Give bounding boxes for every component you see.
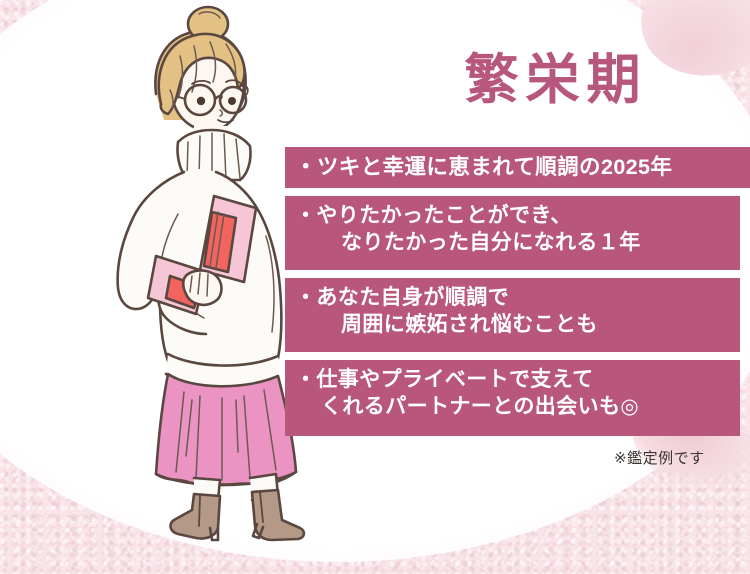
bullet-text-1-line1: ツキと幸運に恵まれて順調の2025年 — [317, 155, 672, 179]
page-title: 繁栄期 — [386, 52, 726, 109]
footnote-disclaimer: ※鑑定例です — [614, 447, 705, 468]
poster-canvas: .ol{fill:none;stroke:#5a4840;stroke-widt… — [0, 0, 750, 574]
bullet-bar-4: ・仕事やプライベートで支えてくれるパートナーとの出会いも◎ — [285, 360, 740, 436]
bullet-marker-2: ・ — [295, 204, 316, 227]
bullet-text-3-line2: 周囲に嫉妬され悩むことも — [295, 311, 732, 338]
bullet-text-2-line1: やりたかったことができ、 — [316, 204, 571, 227]
bullet-text-4-line2: くれるパートナーとの出会いも◎ — [295, 393, 732, 420]
pleated-skirt — [156, 374, 296, 485]
bullet-marker-1: ・ — [295, 155, 317, 179]
bullet-marker-3: ・ — [295, 286, 316, 309]
bullet-marker-4: ・ — [295, 368, 316, 391]
bullet-bar-3: ・あなた自身が順調で周囲に嫉妬され悩むことも — [285, 278, 740, 352]
bullet-bar-2: ・やりたかったことができ、なりたかった自分になれる１年 — [285, 196, 740, 270]
bullet-bar-1: ・ツキと幸運に恵まれて順調の2025年 — [285, 147, 750, 188]
bullet-text-4-line1: 仕事やプライベートで支えて — [316, 368, 593, 391]
ankle-boots — [171, 490, 304, 540]
hand — [183, 271, 221, 305]
bullet-text-2-line2: なりたかった自分になれる１年 — [295, 229, 732, 256]
bullet-text-3-line1: あなた自身が順調で — [316, 286, 509, 309]
